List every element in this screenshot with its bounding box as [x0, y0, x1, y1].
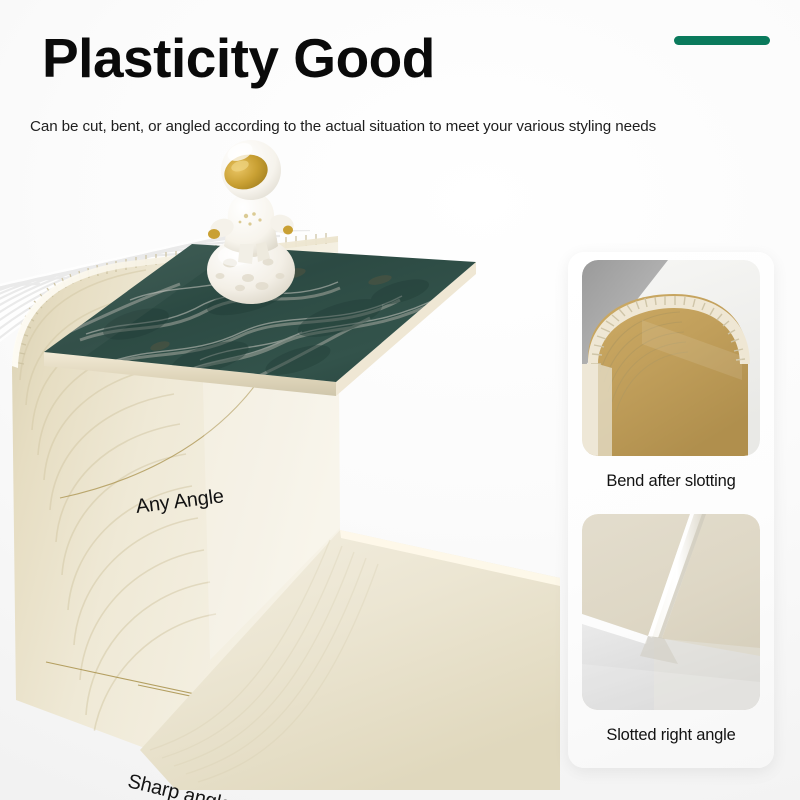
card-bend-after-slotting[interactable]: Bend after slotting: [568, 260, 774, 491]
product-feature-banner: Plasticity Good Can be cut, bent, or ang…: [0, 0, 800, 800]
card-slotted-right-angle[interactable]: Slotted right angle: [568, 514, 774, 745]
page-title: Plasticity Good: [42, 30, 782, 86]
accent-dash: [674, 36, 770, 45]
astronaut-figurine: [196, 130, 306, 310]
card-caption: Bend after slotting: [568, 472, 774, 491]
kerf-bend-photo: [582, 260, 760, 456]
header: Plasticity Good: [42, 30, 782, 86]
main-illustration: Any Angle Sharp angle,90°right angle: [0, 130, 570, 790]
card-caption: Slotted right angle: [568, 726, 774, 745]
slotted-corner-photo: [582, 514, 760, 710]
detail-cards-panel: Bend after slotting: [568, 252, 774, 768]
